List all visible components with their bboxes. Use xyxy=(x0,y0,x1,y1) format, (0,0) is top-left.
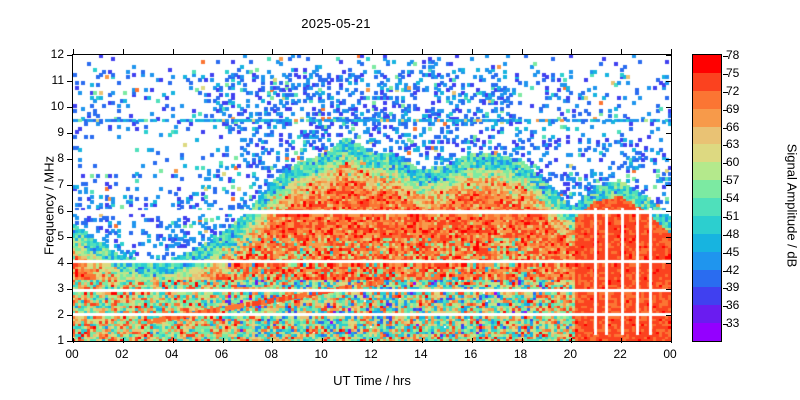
y-axis-tick xyxy=(666,237,671,238)
spectrogram-figure: 2025-05-21 UT Time / hrs Frequency / MHz… xyxy=(0,0,800,400)
x-axis-tick xyxy=(123,338,124,343)
colorbar-title: Signal Amplitude / dB xyxy=(785,86,800,326)
colorbar-band xyxy=(693,127,721,145)
x-axis-tick xyxy=(123,49,124,54)
colorbar-band xyxy=(693,252,721,270)
colorbar-band xyxy=(693,216,721,234)
colorbar-band xyxy=(693,109,721,127)
y-axis-tick xyxy=(67,185,72,186)
x-axis-title: UT Time / hrs xyxy=(72,373,672,388)
colorbar-band xyxy=(693,198,721,216)
x-axis-tick-label: 14 xyxy=(414,347,427,361)
colorbar-band xyxy=(693,73,721,91)
x-axis-tick xyxy=(173,338,174,343)
colorbar-tick-label: 75 xyxy=(726,66,739,80)
x-axis-tick xyxy=(272,338,273,343)
y-axis-tick xyxy=(67,159,72,160)
y-axis-tick xyxy=(67,237,72,238)
x-axis-tick-label: 02 xyxy=(115,347,128,361)
y-axis-tick xyxy=(67,107,72,108)
x-axis-tick xyxy=(621,49,622,54)
x-axis-tick xyxy=(73,49,74,54)
x-axis-tick xyxy=(422,338,423,343)
y-axis-tick-label: 5 xyxy=(38,229,64,243)
x-axis-tick-label: 08 xyxy=(265,347,278,361)
colorbar-tick-label: 57 xyxy=(726,173,739,187)
x-axis-tick xyxy=(522,49,523,54)
colorbar-tick-label: 42 xyxy=(726,263,739,277)
x-axis-tick-label: 00 xyxy=(65,347,78,361)
x-axis-tick xyxy=(621,338,622,343)
y-axis-tick xyxy=(666,211,671,212)
y-axis-tick-label: 6 xyxy=(38,203,64,217)
colorbar-band xyxy=(693,144,721,162)
y-axis-tick-label: 2 xyxy=(38,307,64,321)
colorbar-band xyxy=(693,234,721,252)
y-axis-tick-label: 7 xyxy=(38,177,64,191)
y-axis-tick xyxy=(666,55,671,56)
colorbar-band xyxy=(693,270,721,288)
x-axis-tick xyxy=(372,49,373,54)
x-axis-tick xyxy=(671,49,672,54)
colorbar-tick-label: 54 xyxy=(726,191,739,205)
y-axis-tick xyxy=(67,133,72,134)
x-axis-tick-label: 20 xyxy=(564,347,577,361)
y-axis-tick-label: 1 xyxy=(38,333,64,347)
x-axis-tick xyxy=(571,49,572,54)
y-axis-tick xyxy=(666,159,671,160)
y-axis-tick-label: 10 xyxy=(38,99,64,113)
x-axis-tick-label: 16 xyxy=(464,347,477,361)
x-axis-tick xyxy=(272,49,273,54)
x-axis-tick xyxy=(472,49,473,54)
x-axis-tick xyxy=(322,338,323,343)
x-axis-tick xyxy=(422,49,423,54)
y-axis-tick xyxy=(666,341,671,342)
x-axis-tick xyxy=(322,49,323,54)
colorbar-tick-label: 69 xyxy=(726,102,739,116)
colorbar-tick-label: 66 xyxy=(726,120,739,134)
x-axis-tick-label: 18 xyxy=(514,347,527,361)
x-axis-tick-label: 22 xyxy=(613,347,626,361)
y-axis-tick xyxy=(666,133,671,134)
colorbar-tick-label: 39 xyxy=(726,280,739,294)
y-axis-tick xyxy=(67,211,72,212)
colorbar xyxy=(692,54,722,342)
page-title: 2025-05-21 xyxy=(0,16,672,31)
colorbar-tick-label: 78 xyxy=(726,48,739,62)
y-axis-tick xyxy=(67,289,72,290)
heatmap-canvas xyxy=(73,55,671,341)
x-axis-tick-label: 06 xyxy=(215,347,228,361)
y-axis-tick-label: 9 xyxy=(38,125,64,139)
y-axis-tick xyxy=(67,81,72,82)
x-axis-tick xyxy=(372,338,373,343)
y-axis-tick xyxy=(67,263,72,264)
x-axis-tick xyxy=(472,338,473,343)
colorbar-band xyxy=(693,55,721,73)
y-axis-tick xyxy=(666,263,671,264)
plot-area xyxy=(72,54,672,342)
x-axis-tick-label: 10 xyxy=(314,347,327,361)
y-axis-tick-label: 3 xyxy=(38,281,64,295)
y-axis-tick-label: 8 xyxy=(38,151,64,165)
colorbar-tick-label: 36 xyxy=(726,298,739,312)
x-axis-tick xyxy=(173,49,174,54)
colorbar-band xyxy=(693,91,721,109)
x-axis-tick xyxy=(73,338,74,343)
x-axis-tick-label: 00 xyxy=(663,347,676,361)
colorbar-band xyxy=(693,180,721,198)
colorbar-tick-label: 45 xyxy=(726,245,739,259)
y-axis-tick-label: 12 xyxy=(38,47,64,61)
y-axis-tick-label: 4 xyxy=(38,255,64,269)
x-axis-tick xyxy=(571,338,572,343)
colorbar-band xyxy=(693,323,721,341)
colorbar-tick-label: 63 xyxy=(726,137,739,151)
y-axis-tick xyxy=(67,315,72,316)
x-axis-tick-label: 04 xyxy=(165,347,178,361)
y-axis-tick xyxy=(666,289,671,290)
colorbar-band xyxy=(693,305,721,323)
y-axis-tick xyxy=(666,81,671,82)
colorbar-band xyxy=(693,162,721,180)
colorbar-tick-label: 72 xyxy=(726,84,739,98)
x-axis-tick xyxy=(522,338,523,343)
y-axis-tick xyxy=(666,185,671,186)
colorbar-tick-label: 51 xyxy=(726,209,739,223)
colorbar-tick-label: 33 xyxy=(726,316,739,330)
colorbar-band xyxy=(693,287,721,305)
y-axis-tick xyxy=(67,55,72,56)
y-axis-tick xyxy=(67,341,72,342)
y-axis-tick-label: 11 xyxy=(38,73,64,87)
colorbar-tick-label: 60 xyxy=(726,155,739,169)
x-axis-tick xyxy=(223,338,224,343)
x-axis-tick xyxy=(223,49,224,54)
y-axis-tick xyxy=(666,315,671,316)
y-axis-tick xyxy=(666,107,671,108)
x-axis-tick-label: 12 xyxy=(364,347,377,361)
colorbar-tick-label: 48 xyxy=(726,227,739,241)
x-axis-tick xyxy=(671,338,672,343)
